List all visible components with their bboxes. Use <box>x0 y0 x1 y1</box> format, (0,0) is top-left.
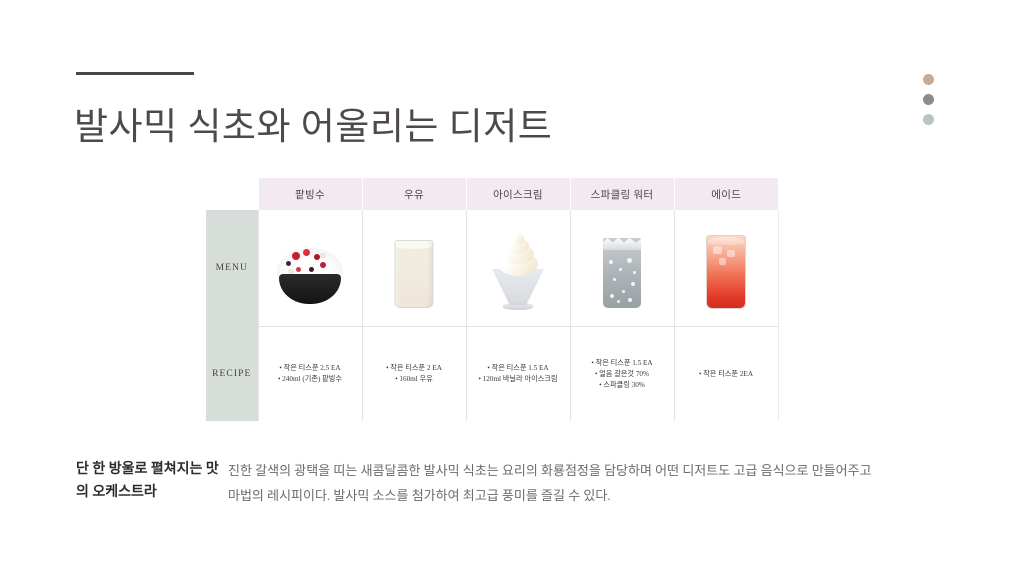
title-rule <box>76 72 194 75</box>
table-header-row: 팥빙수 우유 아이스크림 스파클링 워터 에이드 <box>206 178 778 210</box>
recipe-line: 160ml 우유 <box>363 374 466 385</box>
recipe-cell-sparkling-water: 작은 티스푼 1.5 EA 얼음 갈은것 70% 스파클링 30% <box>570 327 674 422</box>
recipe-line: 스파클링 30% <box>571 380 674 391</box>
menu-cell-sparkling-water <box>570 210 674 327</box>
recipe-line: 작은 티스푼 1.5 EA <box>571 358 674 369</box>
table-corner <box>206 178 258 210</box>
red-ade-drink-icon <box>678 218 774 318</box>
recipe-line: 작은 티스푼 1.5 EA <box>467 363 570 374</box>
recipe-line: 얼음 갈은것 70% <box>571 369 674 380</box>
menu-cell-icecream <box>466 210 570 327</box>
dot-grey-icon <box>923 94 934 105</box>
recipe-cell-ade: 작은 티스푼 2EA <box>674 327 778 422</box>
soft-serve-ice-cream-icon <box>470 218 566 318</box>
recipe-line: 작은 티스푼 2EA <box>675 369 778 380</box>
table-row-recipe: RECIPE 작은 티스푼 2.5 EA 240ml (기존) 팥빙수 작은 티… <box>206 327 778 422</box>
shaved-ice-bingsu-icon <box>262 218 358 318</box>
column-header-ade: 에이드 <box>674 178 778 210</box>
page-title: 발사믹 식초와 어울리는 디저트 <box>74 96 552 150</box>
recipe-cell-milk: 작은 티스푼 2 EA 160ml 우유 <box>362 327 466 422</box>
row-label-menu: MENU <box>206 210 258 327</box>
glass-of-milk-icon <box>366 218 462 318</box>
recipe-line: 작은 티스푼 2 EA <box>363 363 466 374</box>
sparkling-water-icon <box>574 218 670 318</box>
recipe-cell-icecream: 작은 티스푼 1.5 EA 120ml 바닐라 아이스크림 <box>466 327 570 422</box>
footer-lead-text: 단 한 방울로 펼쳐지는 맛의 오케스트라 <box>76 458 226 504</box>
table-row-menu: MENU <box>206 210 778 327</box>
menu-recipe-table: 팥빙수 우유 아이스크림 스파클링 워터 에이드 MENU <box>206 178 779 421</box>
column-header-icecream: 아이스크림 <box>466 178 570 210</box>
column-header-bingsu: 팥빙수 <box>258 178 362 210</box>
column-header-sparkling-water: 스파클링 워터 <box>570 178 674 210</box>
menu-cell-ade <box>674 210 778 327</box>
slide-root: { "slide": { "title": "발사믹 식초와 어울리는 디저트"… <box>0 0 1024 576</box>
recipe-line: 작은 티스푼 2.5 EA <box>259 363 362 374</box>
row-label-recipe: RECIPE <box>206 327 258 422</box>
menu-cell-milk <box>362 210 466 327</box>
footer-body-text: 진한 갈색의 광택을 띠는 새콤달콤한 발사믹 식초는 요리의 화룡점정을 담당… <box>228 458 883 508</box>
recipe-line: 120ml 바닐라 아이스크림 <box>467 374 570 385</box>
accent-dots <box>923 74 934 125</box>
column-header-milk: 우유 <box>362 178 466 210</box>
recipe-cell-bingsu: 작은 티스푼 2.5 EA 240ml (기존) 팥빙수 <box>258 327 362 422</box>
dot-sage-icon <box>923 114 934 125</box>
dot-tan-icon <box>923 74 934 85</box>
menu-cell-bingsu <box>258 210 362 327</box>
recipe-line: 240ml (기존) 팥빙수 <box>259 374 362 385</box>
